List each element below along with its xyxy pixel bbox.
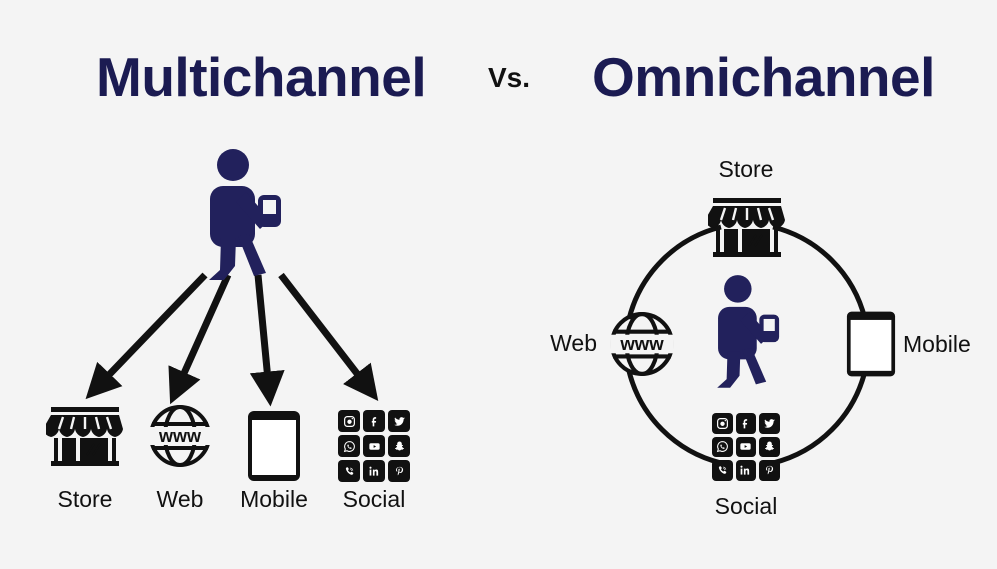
pinterest-icon xyxy=(759,460,780,481)
whatsapp-icon xyxy=(712,437,733,458)
youtube-icon xyxy=(363,435,385,457)
globe-www-icon: www xyxy=(148,404,212,468)
storefront-icon xyxy=(46,405,124,467)
svg-text:www: www xyxy=(619,333,664,354)
label-web-multichannel: Web xyxy=(130,485,230,513)
infographic-canvas: Multichannel Vs. Omnichannel xyxy=(0,0,997,569)
globe-www-icon: www xyxy=(609,311,675,377)
title-separator-vs: Vs. xyxy=(488,58,530,98)
label-mobile-omnichannel: Mobile xyxy=(903,330,993,358)
viber-icon xyxy=(712,460,733,481)
linkedin-icon xyxy=(736,460,757,481)
instagram-icon xyxy=(338,410,360,432)
twitter-icon xyxy=(388,410,410,432)
page-title-omnichannel: Omnichannel xyxy=(592,46,935,108)
linkedin-icon xyxy=(363,460,385,482)
multichannel-person-with-phone-icon xyxy=(196,148,296,280)
smartphone-icon xyxy=(846,310,896,378)
snapchat-icon xyxy=(388,435,410,457)
facebook-icon xyxy=(736,413,757,434)
social-grid-icon xyxy=(338,410,410,482)
svg-text:www: www xyxy=(158,426,202,446)
pinterest-icon xyxy=(388,460,410,482)
facebook-icon xyxy=(363,410,385,432)
storefront-icon xyxy=(708,196,786,258)
label-store-multichannel: Store xyxy=(35,485,135,513)
youtube-icon xyxy=(736,437,757,458)
page-title-multichannel: Multichannel xyxy=(96,46,426,108)
label-social-multichannel: Social xyxy=(324,485,424,513)
twitter-icon xyxy=(759,413,780,434)
label-social-omnichannel: Social xyxy=(696,492,796,520)
label-mobile-multichannel: Mobile xyxy=(224,485,324,513)
instagram-icon xyxy=(712,413,733,434)
viber-icon xyxy=(338,460,360,482)
smartphone-icon xyxy=(247,410,301,482)
whatsapp-icon xyxy=(338,435,360,457)
snapchat-icon xyxy=(759,437,780,458)
arrow-to-social xyxy=(281,275,362,380)
omnichannel-person-with-phone-icon xyxy=(706,272,792,390)
arrow-to-mobile xyxy=(258,275,268,380)
title-row: Multichannel Vs. Omnichannel xyxy=(0,46,997,108)
label-store-omnichannel: Store xyxy=(696,155,796,183)
label-web-omnichannel: Web xyxy=(537,329,597,357)
social-grid-icon xyxy=(712,413,780,481)
